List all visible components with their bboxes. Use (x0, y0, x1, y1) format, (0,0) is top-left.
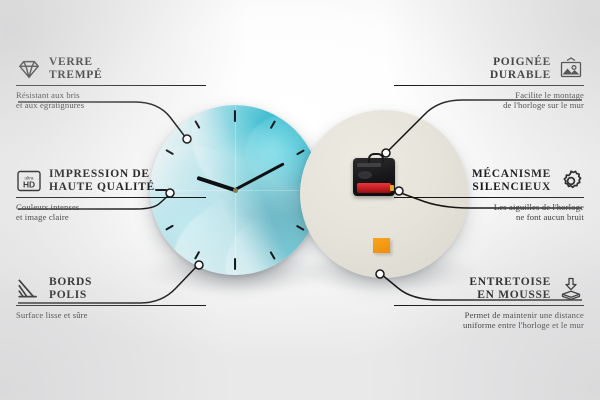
feature-title-line1: MÉCANISME (472, 168, 551, 181)
feature-title-line2: TREMPÉ (49, 69, 102, 82)
feature-title-line2: EN MOUSSE (469, 289, 551, 302)
battery (357, 183, 391, 193)
ultra-hd-icon: ultra HD (16, 168, 42, 194)
divider (394, 305, 584, 306)
movement-label (357, 163, 381, 167)
feature-mecanisme-silencieux: MÉCANISME SILENCIEUX Les aiguilles de l'… (394, 168, 584, 222)
feature-desc-line2: et aux égratignures (16, 100, 206, 110)
divider (16, 85, 206, 86)
feature-desc-line1: Permet de maintenir une distance (394, 310, 584, 320)
feature-desc-line2: et image claire (16, 212, 206, 222)
feature-verre-trempe: VERRE TREMPÉ Résistant aux bris et aux é… (16, 56, 206, 110)
polished-edges-icon (16, 276, 42, 302)
feature-entretoise-en-mousse: ENTRETOISE EN MOUSSE Permet de maintenir… (394, 276, 584, 330)
feature-poignee-durable: POIGNÉE DURABLE Facilite le montage de l… (394, 56, 584, 110)
foam-spacer-icon (558, 276, 584, 302)
diamond-icon (16, 56, 42, 82)
svg-text:HD: HD (23, 179, 35, 189)
feature-impression-haute-qualite: ultra HD IMPRESSION DE HAUTE QUALITÉ Cou… (16, 168, 206, 222)
foam-spacer (373, 238, 390, 253)
feature-title-line1: POIGNÉE (490, 56, 551, 69)
quartz-movement (353, 158, 395, 196)
movement-hanger (368, 153, 384, 163)
feature-title-line1: BORDS (49, 276, 92, 289)
feature-title-line2: SILENCIEUX (472, 181, 551, 194)
feature-bords-polis: BORDS POLIS Surface lisse et sûre (16, 276, 206, 320)
feature-desc-line1: Couleurs intenses (16, 202, 206, 212)
feature-desc-line1: Facilite le montage (394, 90, 584, 100)
movement-dial (358, 171, 372, 179)
feature-title-line2: HAUTE QUALITÉ (49, 181, 155, 194)
gear-icon (558, 168, 584, 194)
divider (16, 197, 206, 198)
feature-desc-line1: Résistant aux bris (16, 90, 206, 100)
divider (394, 197, 584, 198)
feature-title-line1: VERRE (49, 56, 102, 69)
feature-title-line1: IMPRESSION DE (49, 168, 155, 181)
feature-desc-line2: uniforme entre l'horloge et le mur (394, 320, 584, 330)
feature-desc-line1: Surface lisse et sûre (16, 310, 206, 320)
divider (394, 85, 584, 86)
feature-desc-line1: Les aiguilles de l'horloge (394, 202, 584, 212)
center-pin (233, 188, 238, 193)
feature-title-line1: ENTRETOISE (469, 276, 551, 289)
feature-desc-line2: de l'horloge sur le mur (394, 100, 584, 110)
feature-desc-line2: ne font aucun bruit (394, 212, 584, 222)
feature-title-line2: DURABLE (490, 69, 551, 82)
infographic-canvas: VERRE TREMPÉ Résistant aux bris et aux é… (0, 0, 600, 400)
hanging-frame-icon (558, 56, 584, 82)
feature-title-line2: POLIS (49, 289, 92, 302)
divider (16, 305, 206, 306)
